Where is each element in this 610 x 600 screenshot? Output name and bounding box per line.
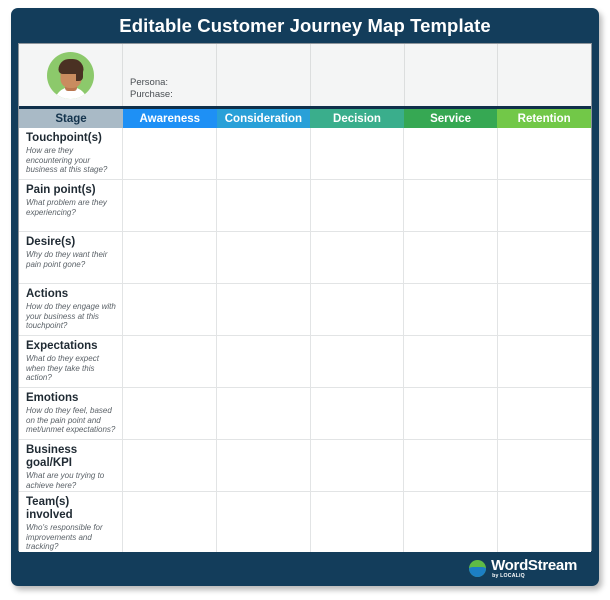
- row-subtitle: How do they engage with your business at…: [26, 302, 116, 331]
- journey-cell-retention[interactable]: [498, 180, 591, 231]
- persona-avatar-cell: [19, 44, 123, 106]
- journey-cell-decision[interactable]: [311, 388, 405, 439]
- journey-cell-retention[interactable]: [498, 440, 591, 491]
- table-row: EmotionsHow do they feel, based on the p…: [19, 388, 591, 440]
- journey-cell-awareness[interactable]: [123, 492, 217, 552]
- persona-label: Persona:: [130, 77, 216, 89]
- journey-cell-service[interactable]: [404, 128, 498, 179]
- journey-cell-consideration[interactable]: [217, 232, 311, 283]
- wordstream-logo: WordStream by LOCALiQ: [469, 558, 577, 579]
- journey-cell-service[interactable]: [404, 388, 498, 439]
- journey-cell-retention[interactable]: [498, 232, 591, 283]
- journey-cell-service[interactable]: [404, 180, 498, 231]
- table-row: Pain point(s)What problem are they exper…: [19, 180, 591, 232]
- row-subtitle: How are they encountering your business …: [26, 146, 116, 175]
- journey-cell-awareness[interactable]: [123, 284, 217, 335]
- journey-map-body: Touchpoint(s)How are they encountering y…: [19, 128, 591, 552]
- persona-blank-cell[interactable]: [498, 44, 591, 106]
- journey-cell-consideration[interactable]: [217, 492, 311, 552]
- row-label-cell: EmotionsHow do they feel, based on the p…: [19, 388, 123, 439]
- logo-text: WordStream by LOCALiQ: [491, 558, 577, 579]
- avatar-hair-side: [76, 66, 83, 81]
- row-label-cell: Touchpoint(s)How are they encountering y…: [19, 128, 123, 179]
- row-label-cell: ActionsHow do they engage with your busi…: [19, 284, 123, 335]
- journey-cell-consideration[interactable]: [217, 128, 311, 179]
- footer: WordStream by LOCALiQ: [11, 551, 599, 586]
- journey-cell-consideration[interactable]: [217, 180, 311, 231]
- row-title: Emotions: [26, 392, 116, 405]
- table-row: ActionsHow do they engage with your busi…: [19, 284, 591, 336]
- journey-cell-service[interactable]: [404, 440, 498, 491]
- row-subtitle: How do they feel, based on the pain poin…: [26, 406, 116, 435]
- persona-row: Persona: Purchase:: [19, 44, 591, 106]
- row-title: Team(s) involved: [26, 496, 116, 522]
- journey-cell-awareness[interactable]: [123, 388, 217, 439]
- persona-blank-cell[interactable]: [405, 44, 499, 106]
- stage-header-retention[interactable]: Retention: [497, 109, 591, 128]
- journey-cell-decision[interactable]: [311, 336, 405, 387]
- person-avatar-icon: [47, 52, 94, 99]
- table-row: ExpectationsWhat do they expect when the…: [19, 336, 591, 388]
- journey-cell-service[interactable]: [404, 232, 498, 283]
- purchase-label: Purchase:: [130, 89, 216, 101]
- row-label-cell: Pain point(s)What problem are they exper…: [19, 180, 123, 231]
- journey-cell-decision[interactable]: [311, 440, 405, 491]
- row-subtitle: What are you trying to achieve here?: [26, 471, 116, 490]
- journey-cell-retention[interactable]: [498, 128, 591, 179]
- journey-cell-consideration[interactable]: [217, 388, 311, 439]
- stage-header-row: Stage Awareness Consideration Decision S…: [19, 106, 591, 128]
- journey-cell-service[interactable]: [404, 492, 498, 552]
- journey-cell-consideration[interactable]: [217, 440, 311, 491]
- row-label-cell: Desire(s)Why do they want their pain poi…: [19, 232, 123, 283]
- journey-cell-awareness[interactable]: [123, 232, 217, 283]
- journey-cell-decision[interactable]: [311, 128, 405, 179]
- title-bar: Editable Customer Journey Map Template: [11, 8, 599, 43]
- table-row: Business goal/KPIWhat are you trying to …: [19, 440, 591, 492]
- wordstream-wave-logo-icon: [469, 560, 486, 577]
- row-title: Touchpoint(s): [26, 132, 116, 145]
- logo-byline: by LOCALiQ: [492, 574, 577, 579]
- journey-cell-retention[interactable]: [498, 388, 591, 439]
- row-subtitle: Who's responsible for improvements and t…: [26, 523, 116, 552]
- journey-map-table: Persona: Purchase: Stage Awareness Consi…: [18, 43, 592, 551]
- journey-cell-decision[interactable]: [311, 180, 405, 231]
- stage-header-consideration[interactable]: Consideration: [217, 109, 311, 128]
- row-title: Expectations: [26, 340, 116, 353]
- journey-cell-awareness[interactable]: [123, 440, 217, 491]
- page-title: Editable Customer Journey Map Template: [119, 15, 490, 37]
- persona-blank-cell[interactable]: [217, 44, 311, 106]
- journey-cell-decision[interactable]: [311, 284, 405, 335]
- row-title: Desire(s): [26, 236, 116, 249]
- journey-cell-awareness[interactable]: [123, 128, 217, 179]
- journey-cell-retention[interactable]: [498, 284, 591, 335]
- row-subtitle: Why do they want their pain point gone?: [26, 250, 116, 269]
- stage-column-header: Stage: [19, 109, 123, 128]
- journey-cell-retention[interactable]: [498, 492, 591, 552]
- row-label-cell: ExpectationsWhat do they expect when the…: [19, 336, 123, 387]
- table-row: Desire(s)Why do they want their pain poi…: [19, 232, 591, 284]
- journey-cell-service[interactable]: [404, 336, 498, 387]
- journey-cell-decision[interactable]: [311, 492, 405, 552]
- journey-cell-retention[interactable]: [498, 336, 591, 387]
- logo-wave-shape: [469, 567, 486, 577]
- journey-cell-awareness[interactable]: [123, 336, 217, 387]
- stage-header-awareness[interactable]: Awareness: [123, 109, 217, 128]
- journey-cell-decision[interactable]: [311, 232, 405, 283]
- persona-blank-cell[interactable]: [311, 44, 405, 106]
- logo-wordmark: WordStream: [491, 558, 577, 573]
- row-label-cell: Team(s) involvedWho's responsible for im…: [19, 492, 123, 552]
- stage-header-service[interactable]: Service: [404, 109, 498, 128]
- stage-header-decision[interactable]: Decision: [310, 109, 404, 128]
- journey-cell-service[interactable]: [404, 284, 498, 335]
- row-title: Business goal/KPI: [26, 444, 116, 470]
- table-row: Touchpoint(s)How are they encountering y…: [19, 128, 591, 180]
- persona-info-cell[interactable]: Persona: Purchase:: [123, 44, 217, 106]
- journey-cell-consideration[interactable]: [217, 284, 311, 335]
- journey-cell-awareness[interactable]: [123, 180, 217, 231]
- row-title: Pain point(s): [26, 184, 116, 197]
- table-row: Team(s) involvedWho's responsible for im…: [19, 492, 591, 552]
- journey-cell-consideration[interactable]: [217, 336, 311, 387]
- row-title: Actions: [26, 288, 116, 301]
- row-label-cell: Business goal/KPIWhat are you trying to …: [19, 440, 123, 491]
- row-subtitle: What problem are they experiencing?: [26, 198, 116, 217]
- row-subtitle: What do they expect when they take this …: [26, 354, 116, 383]
- journey-map-panel: Editable Customer Journey Map Template P…: [11, 8, 599, 586]
